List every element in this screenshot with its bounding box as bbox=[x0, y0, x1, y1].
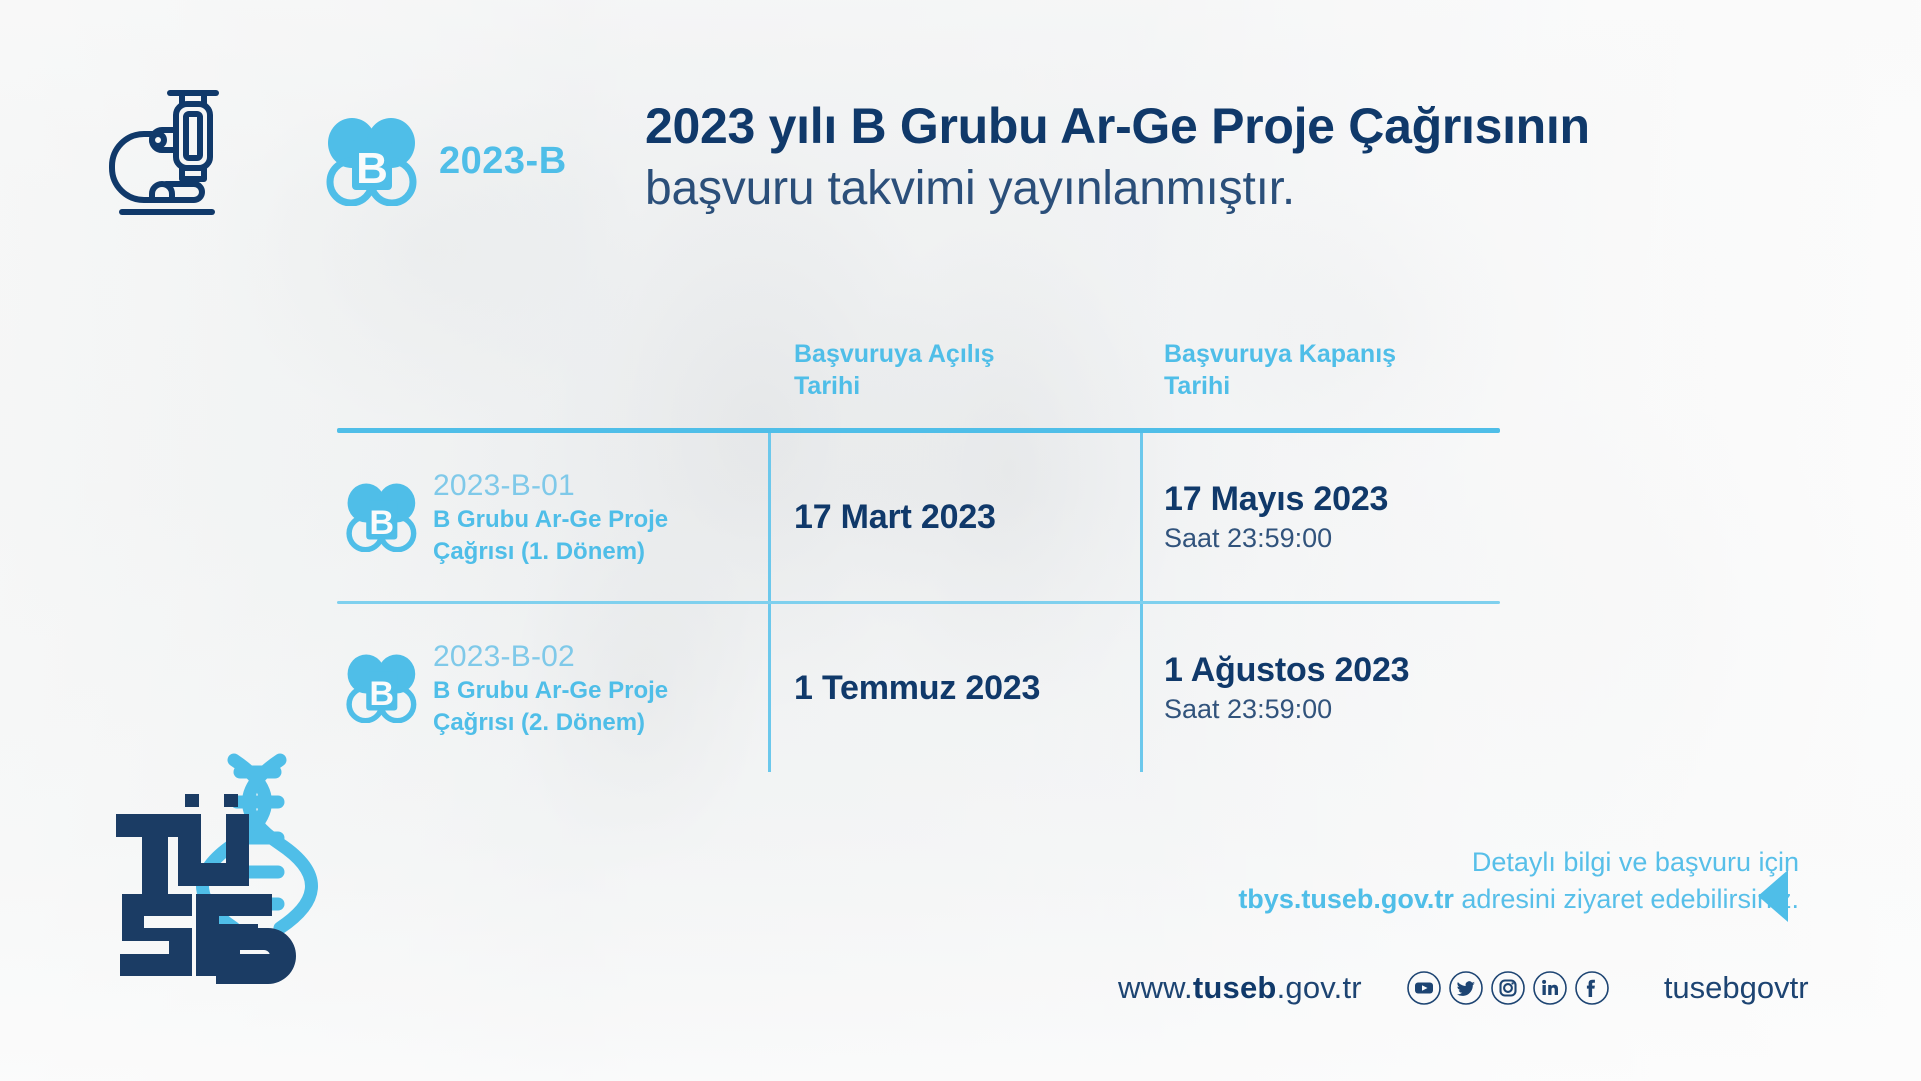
table-row: B 2023-B-01 B Grubu Ar-Ge Proje Çağrısı … bbox=[337, 433, 1500, 601]
close-time-value: Saat 23:59:00 bbox=[1164, 523, 1500, 554]
cell-open-date: 17 Mart 2023 bbox=[768, 433, 1140, 601]
social-handle: tusebgovtr bbox=[1664, 970, 1809, 1006]
page-title: 2023 yılı B Grubu Ar-Ge Proje Çağrısının… bbox=[645, 97, 1590, 219]
cta-line-1: Detaylı bilgi ve başvuru için bbox=[1238, 845, 1799, 880]
table-header-row: Başvuruya Açılış Tarihi Başvuruya Kapanı… bbox=[337, 330, 1500, 428]
site-bold: tuseb bbox=[1193, 970, 1277, 1005]
site-prefix: www. bbox=[1118, 970, 1193, 1005]
column-divider-1 bbox=[768, 433, 771, 601]
column-divider-1-tail bbox=[768, 666, 771, 728]
youtube-icon[interactable] bbox=[1406, 970, 1442, 1006]
twitter-icon[interactable] bbox=[1448, 970, 1484, 1006]
column-divider-2 bbox=[1140, 433, 1143, 601]
left-triangle-icon bbox=[1758, 870, 1788, 922]
column-header-open-date-line2: Tarihi bbox=[794, 370, 1140, 402]
instagram-icon[interactable] bbox=[1490, 970, 1526, 1006]
open-date-value: 17 Mart 2023 bbox=[794, 498, 996, 537]
svg-text:B: B bbox=[356, 144, 388, 193]
footer-bar: www.tuseb.gov.tr bbox=[1118, 970, 1809, 1006]
column-header-close-date-line2: Tarihi bbox=[1164, 370, 1500, 402]
poster-stage: B 2023-B 2023 yılı B Grubu Ar-Ge Proje Ç… bbox=[0, 0, 1921, 1081]
column-header-close-date-line1: Başvuruya Kapanış bbox=[1164, 338, 1500, 370]
cta-block: Detaylı bilgi ve başvuru için tbys.tuseb… bbox=[1238, 845, 1799, 916]
headline-line-1: 2023 yılı B Grubu Ar-Ge Proje Çağrısının bbox=[645, 97, 1590, 156]
cta-line-2: tbys.tuseb.gov.tr adresini ziyaret edebi… bbox=[1238, 882, 1799, 917]
cta-link[interactable]: tbys.tuseb.gov.tr bbox=[1238, 884, 1454, 914]
call-title-line1: B Grubu Ar-Ge Proje bbox=[433, 505, 668, 535]
campaign-badge: B 2023-B bbox=[325, 116, 567, 206]
website-url[interactable]: www.tuseb.gov.tr bbox=[1118, 970, 1362, 1006]
svg-text:B: B bbox=[369, 504, 394, 542]
table-header-spacer bbox=[337, 330, 768, 428]
column-header-open-date: Başvuruya Açılış Tarihi bbox=[768, 330, 1140, 428]
cell-close-date: 17 Mayıs 2023 Saat 23:59:00 bbox=[1140, 433, 1500, 601]
call-title-line2: Çağrısı (1. Dönem) bbox=[433, 537, 668, 567]
column-header-open-date-line1: Başvuruya Açılış bbox=[794, 338, 1140, 370]
facebook-icon[interactable] bbox=[1574, 970, 1610, 1006]
cell-call-name: B 2023-B-01 B Grubu Ar-Ge Proje Çağrısı … bbox=[337, 433, 768, 601]
call-code: 2023-B-01 bbox=[433, 468, 668, 503]
microscope-icon bbox=[104, 82, 232, 222]
badge-label: 2023-B bbox=[439, 140, 567, 183]
column-divider-2-tail bbox=[1140, 666, 1143, 728]
cta-line-2-rest: adresini ziyaret edebilirsiniz. bbox=[1454, 884, 1799, 914]
b-grubu-logo-icon: B bbox=[345, 482, 417, 552]
close-date-value: 17 Mayıs 2023 bbox=[1164, 480, 1500, 519]
b-grubu-logo-icon: B bbox=[325, 116, 417, 206]
social-links bbox=[1406, 970, 1610, 1006]
table-divider-tails bbox=[337, 666, 1500, 728]
headline-line-2: başvuru takvimi yayınlanmıştır. bbox=[645, 160, 1590, 219]
linkedin-icon[interactable] bbox=[1532, 970, 1568, 1006]
column-header-close-date: Başvuruya Kapanış Tarihi bbox=[1140, 330, 1500, 428]
tuseb-logo-icon bbox=[98, 742, 324, 994]
site-suffix: .gov.tr bbox=[1277, 970, 1362, 1005]
